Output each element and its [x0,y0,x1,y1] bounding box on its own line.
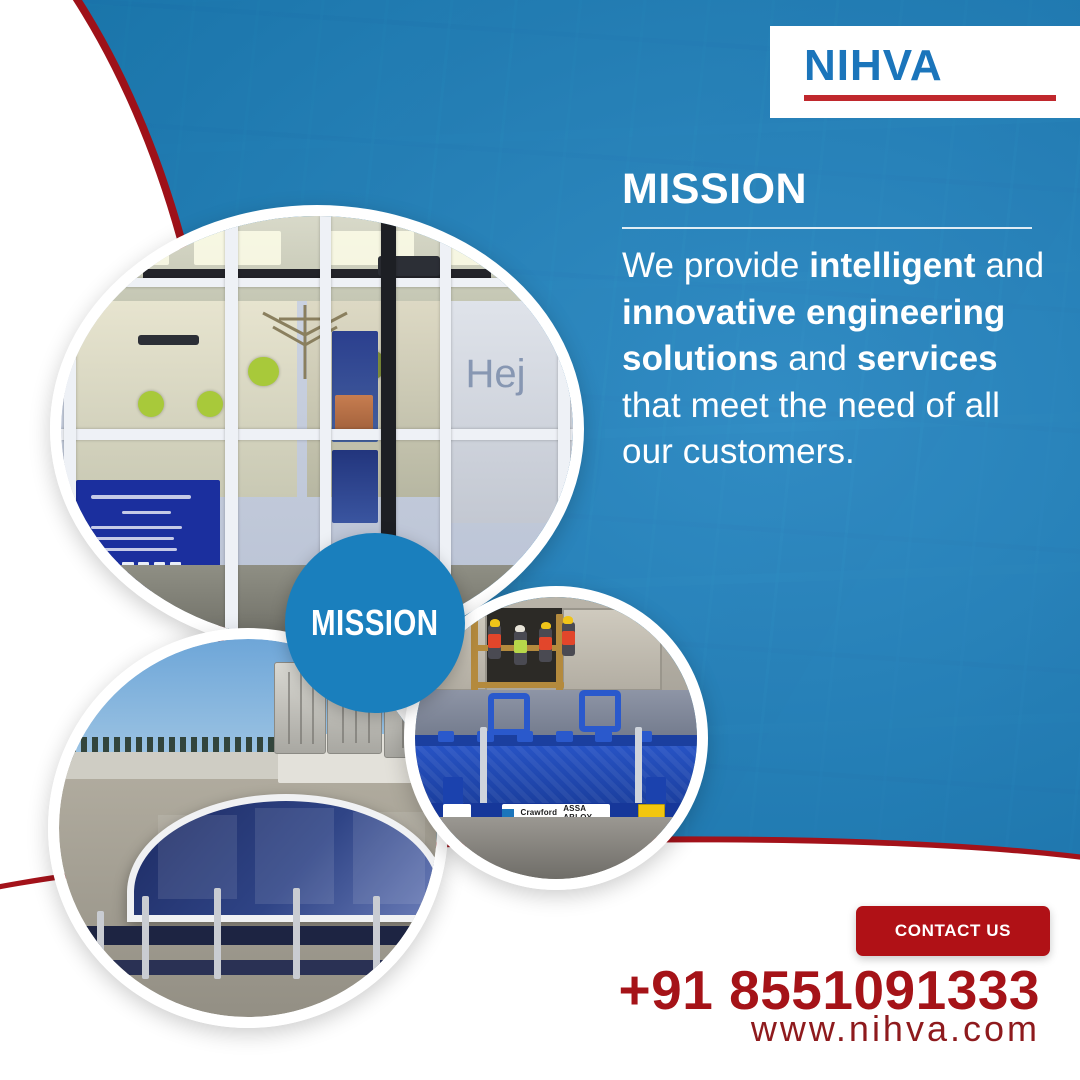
contact-us-label: CONTACT US [895,921,1011,941]
mission-line-1a: We provide [622,246,809,285]
mission-text-block: MISSION We provide intelligent and innov… [622,168,1054,476]
mission-line-2a: and [985,246,1044,285]
crawford-logo-mark [502,809,514,817]
mission-word-services: services [857,339,998,378]
mission-badge-label: MISSION [311,602,439,644]
dock-lug-bracket [579,690,621,732]
website-url[interactable]: www.nihva.com [0,1008,1040,1050]
hej-sign-text: Hej [465,352,525,397]
mission-word-intelligent: intelligent [809,246,975,285]
logo-red-underline [804,95,1056,101]
contact-us-button[interactable]: CONTACT US [856,906,1050,956]
mission-body: We provide intelligent and innovative en… [622,243,1054,476]
mission-badge: MISSION [285,533,465,713]
crawford-brand-text: Crawford [520,808,557,817]
poster-canvas: NIHVA MISSION We provide intelligent and… [0,0,1080,1080]
logo-wordmark: NIHVA [804,44,1080,88]
mission-word-innovative: innovative [622,293,796,332]
nihva-logo: NIHVA [770,26,1080,118]
mission-heading-rule [622,227,1032,229]
mission-line-4c: that [622,386,681,425]
mission-line-4a: and [788,339,857,378]
dock-lug-bracket [488,693,530,735]
mission-line-6: our customers. [622,432,855,471]
mission-line-5: meet the need of all [691,386,1000,425]
mission-heading: MISSION [622,168,1054,211]
